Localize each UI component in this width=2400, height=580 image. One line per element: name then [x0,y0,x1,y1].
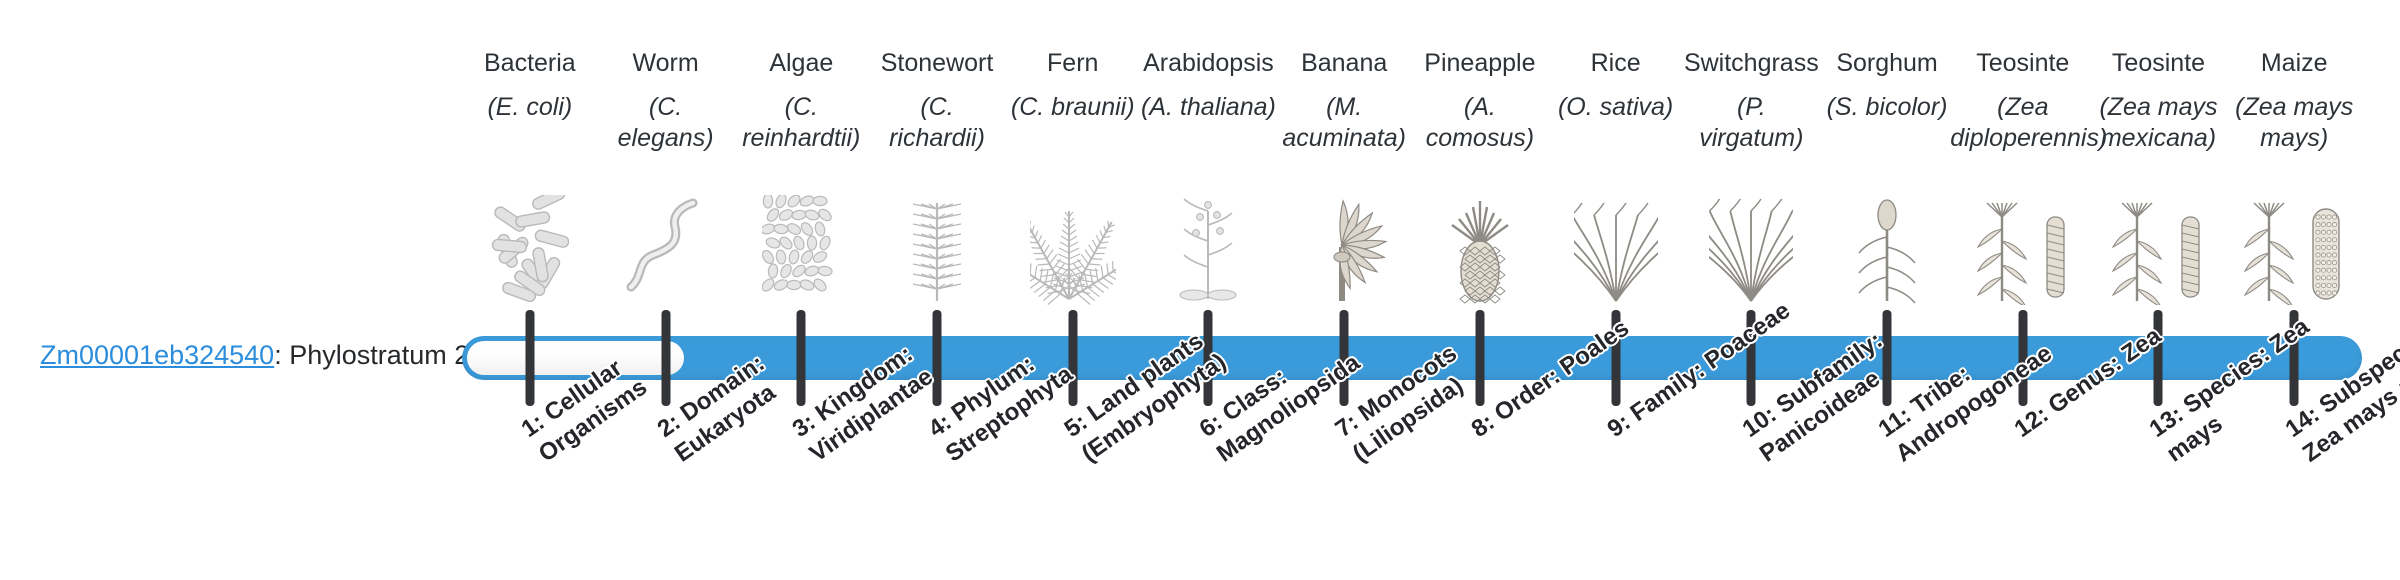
phylostratum-value-text: Phylostratum 2 [289,340,469,370]
species-scientific-name: (Zea diploperennis) [1950,92,2095,154]
banana-tree-icon [1298,180,1390,305]
nematode-worm-icon [623,180,709,305]
species-common-name: Bacteria [484,48,576,78]
species-scientific-name: (A. thaliana) [1141,92,1276,123]
species-common-name: Maize [2261,48,2328,78]
species-common-name: Teosinte [1976,48,2069,78]
species-common-name: Worm [632,48,698,78]
species-common-name: Sorghum [1836,48,1937,78]
strata-label-row: 1: Cellular Organisms2: Domain: Eukaryot… [462,420,2362,580]
teosinte-plant-and-ear-icon [1971,180,2075,305]
species-column: Fern(C. braunii) [1005,48,1141,123]
species-scientific-name: (P. virgatum) [1683,92,1819,154]
species-common-name: Arabidopsis [1143,48,1274,78]
switchgrass-clump-icon [1709,180,1793,305]
species-column: Arabidopsis(A. thaliana) [1141,48,1277,123]
species-common-name: Teosinte [2112,48,2205,78]
teosinte-plant-and-ear-icon [2106,180,2210,305]
species-scientific-name: (Zea mays mexicana) [2091,92,2227,154]
species-column: Worm(C. elegans) [598,48,734,154]
species-scientific-name: (C. richardii) [869,92,1005,154]
species-common-name: Algae [769,48,833,78]
bacteria-rods-icon [491,180,569,305]
species-common-name: Stonewort [881,48,994,78]
species-scientific-name: (E. coli) [487,92,572,123]
fern-frond-icon [1030,180,1116,305]
sorghum-plant-icon [1848,180,1926,305]
species-scientific-name: (C. elegans) [598,92,734,154]
stratum-tick[interactable] [525,310,534,406]
gene-label-separator: : [274,340,289,370]
species-scientific-name: (C. reinhardtii) [733,92,869,154]
species-scientific-name: (S. bicolor) [1827,92,1948,123]
species-common-name: Switchgrass [1684,48,1819,78]
species-common-name: Pineapple [1424,48,1535,78]
stonewort-plant-icon [898,180,976,305]
species-column: Maize(Zea mays mays) [2226,48,2362,154]
stratum-number: 9: [1602,409,1635,443]
species-column: Pineapple(A. comosus) [1412,48,1548,154]
species-column: Bacteria(E. coli) [462,48,598,123]
species-row: Bacteria(E. coli)Worm(C. elegans)Algae(C… [462,48,2362,313]
gene-phylostratum-label: Zm00001eb324540: Phylostratum 2 [40,338,460,372]
arabidopsis-rosette-icon [1168,180,1248,305]
stratum-number: 8: [1466,409,1499,443]
species-scientific-name: (O. sativa) [1558,92,1673,123]
species-column: Stonewort(C. richardii) [869,48,1005,154]
species-common-name: Fern [1047,48,1098,78]
species-column: Sorghum(S. bicolor) [1819,48,1955,123]
species-common-name: Banana [1301,48,1387,78]
species-common-name: Rice [1591,48,1641,78]
species-column: Algae(C. reinhardtii) [733,48,869,154]
phylostratum-figure: Zm00001eb324540: Phylostratum 2 Bacteria… [0,0,2400,580]
species-scientific-name: (Zea mays mays) [2226,92,2362,154]
species-column: Teosinte(Zea mays mexicana) [2091,48,2227,154]
species-column: Banana(M. acuminata) [1276,48,1412,154]
species-scientific-name: (M. acuminata) [1276,92,1412,154]
species-column: Switchgrass(P. virgatum) [1683,48,1819,154]
gene-id-link[interactable]: Zm00001eb324540 [40,340,274,370]
maize-plant-and-ear-icon [2239,180,2349,305]
pineapple-fruit-icon [1441,180,1519,305]
species-column: Rice(O. sativa) [1548,48,1684,123]
algae-cells-icon [762,180,840,305]
rice-plant-icon [1574,180,1658,305]
species-column: Teosinte(Zea diploperennis) [1955,48,2091,154]
stratum-number: 12: [2009,401,2053,443]
species-scientific-name: (C. braunii) [1011,92,1135,123]
species-scientific-name: (A. comosus) [1412,92,1548,154]
